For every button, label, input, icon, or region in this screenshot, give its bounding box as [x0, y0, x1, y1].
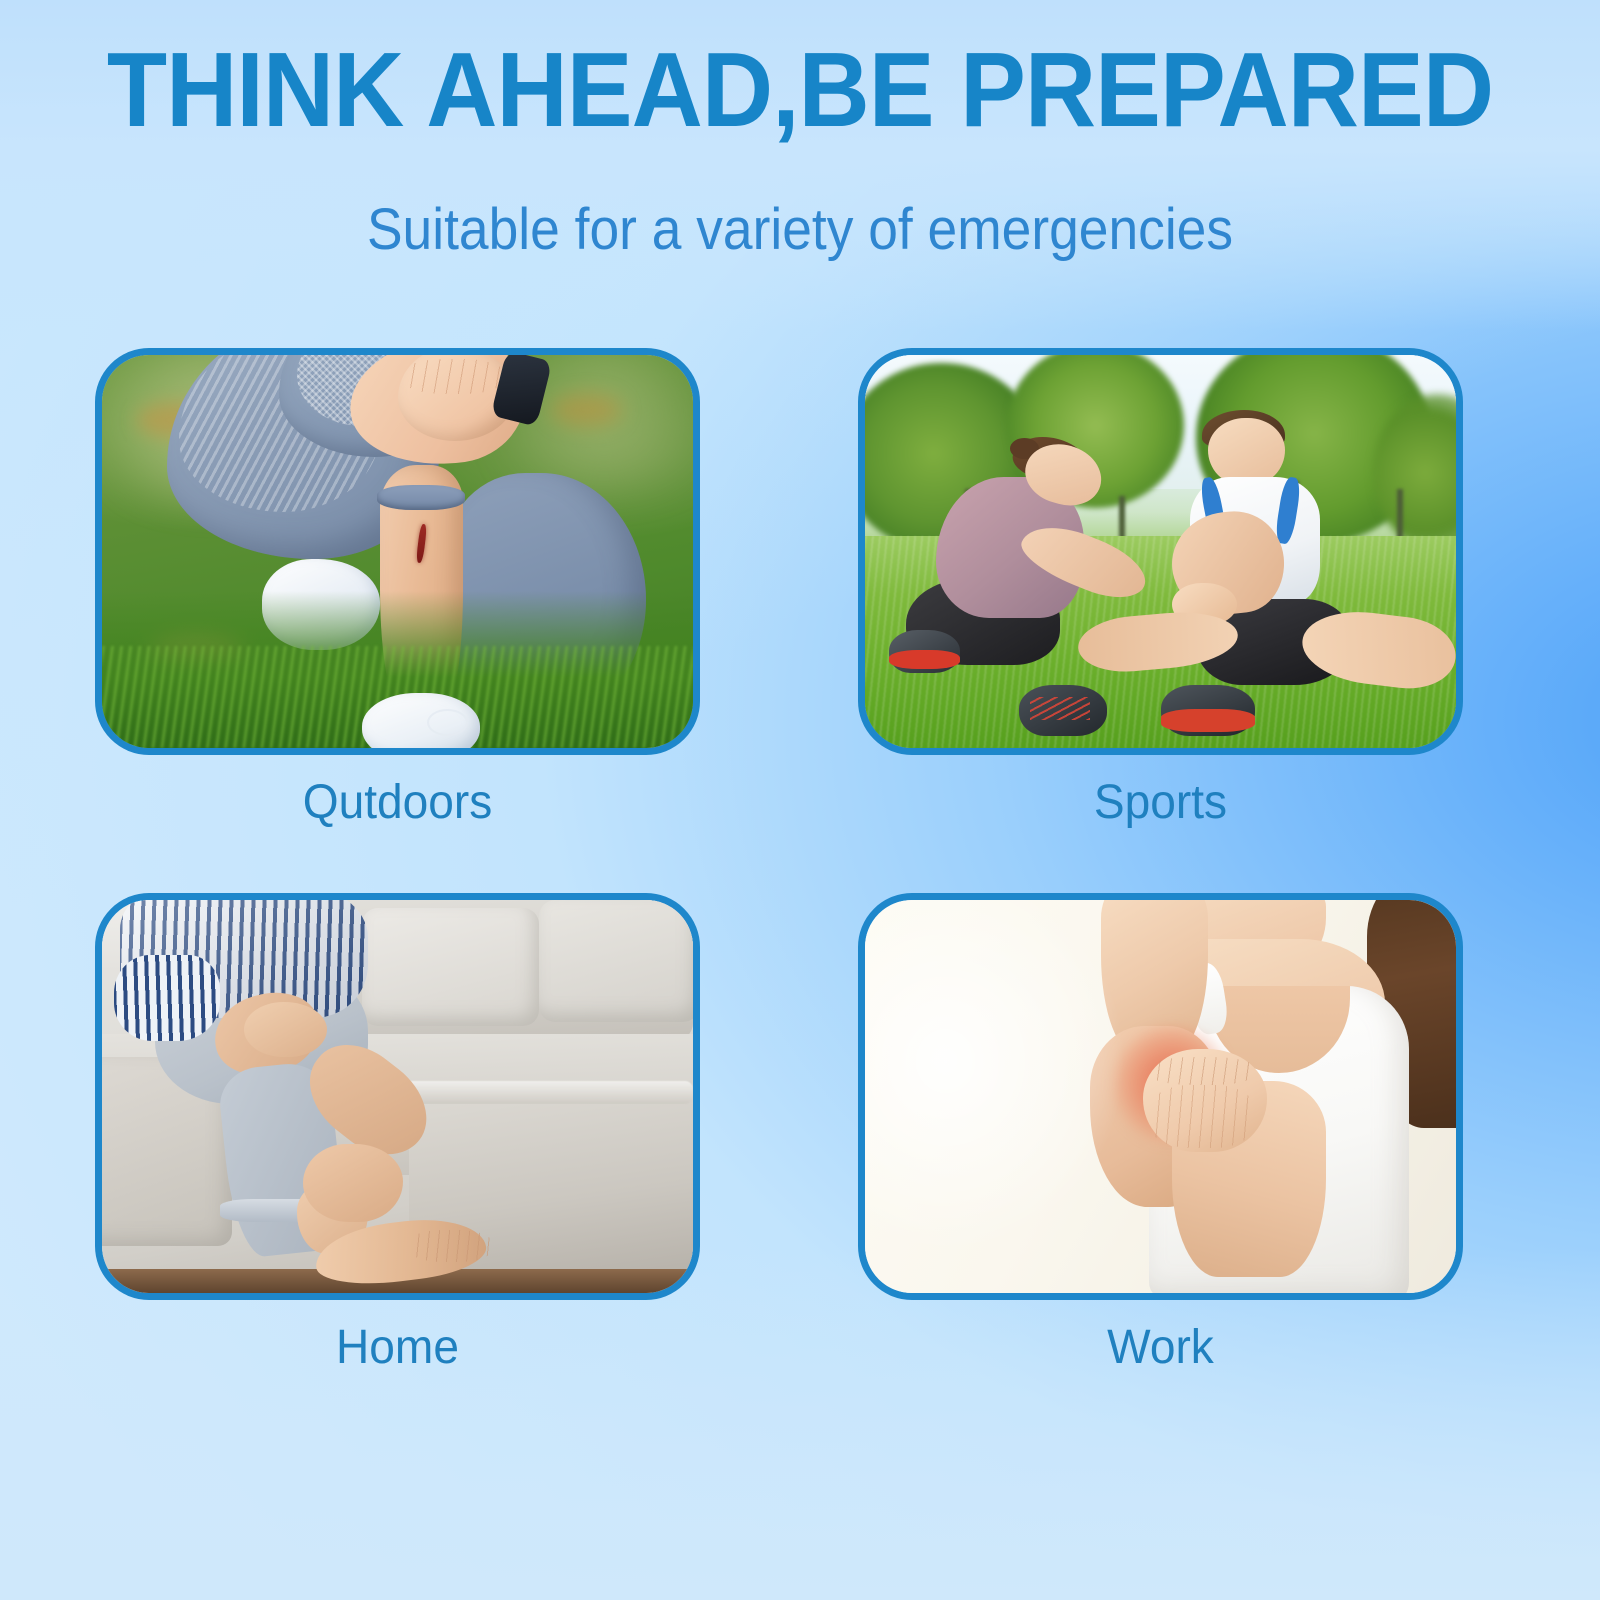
use-case-item-work[interactable]: Work [858, 893, 1463, 1375]
poster-stage: THINK AHEAD,BE PREPARED Suitable for a v… [0, 0, 1600, 1600]
use-case-item-home[interactable]: Home [95, 893, 700, 1375]
card-caption-sports: Sports [870, 775, 1451, 830]
use-case-grid: Qutdoors [95, 348, 1455, 1358]
photo-card-sports[interactable] [858, 348, 1463, 755]
photo-card-work[interactable] [858, 893, 1463, 1300]
photo-sports [865, 355, 1456, 748]
card-caption-home: Home [107, 1320, 688, 1375]
photo-work [865, 900, 1456, 1293]
use-case-item-sports[interactable]: Sports [858, 348, 1463, 830]
photo-card-home[interactable] [95, 893, 700, 1300]
page-subtitle: Suitable for a variety of emergencies [64, 196, 1536, 263]
page-title: THINK AHEAD,BE PREPARED [56, 34, 1544, 146]
card-caption-outdoors: Qutdoors [107, 775, 688, 830]
photo-outdoors [102, 355, 693, 748]
use-case-item-outdoors[interactable]: Qutdoors [95, 348, 700, 830]
card-caption-work: Work [870, 1320, 1451, 1375]
photo-home [102, 900, 693, 1293]
photo-card-outdoors[interactable] [95, 348, 700, 755]
